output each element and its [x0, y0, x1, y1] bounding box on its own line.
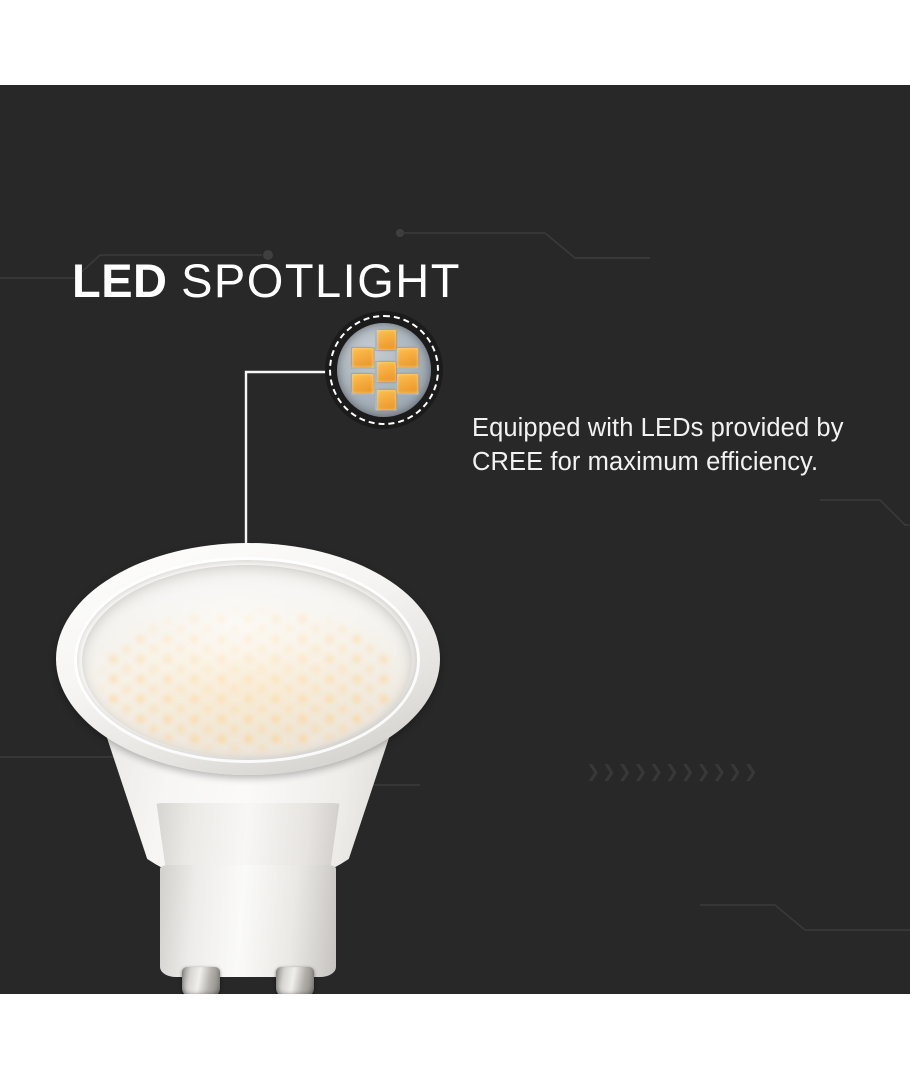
gu10-pin-right	[276, 967, 314, 994]
page-title-strong: LED	[72, 254, 168, 307]
led-pcb-board	[337, 323, 431, 417]
led-chip	[377, 330, 396, 350]
trace-dot-icon	[396, 229, 404, 237]
led-chip	[352, 374, 373, 393]
page-title: LED SPOTLIGHT	[72, 257, 461, 304]
led-chip	[377, 362, 396, 382]
led-chip	[397, 374, 418, 393]
led-spotlight-bulb	[48, 473, 448, 994]
bulb-inner-rim	[74, 557, 420, 763]
circuit-trace-bottom-right	[700, 905, 910, 930]
led-chip	[377, 390, 396, 410]
led-chip-magnifier	[325, 311, 443, 429]
gu10-pin-left	[182, 967, 220, 994]
bulb-neck	[160, 865, 336, 977]
dark-product-panel: ❯❯❯❯❯❯❯❯❯❯❯ LED SPOTLIGHT Equipped with …	[0, 85, 910, 994]
feature-caption: Equipped with LEDs provided by CREE for …	[472, 411, 862, 479]
chevron-row-icon: ❯❯❯❯❯❯❯❯❯❯❯	[586, 762, 759, 782]
led-chip	[397, 348, 418, 367]
circuit-trace-right-mid	[820, 500, 910, 525]
page-title-thin: SPOTLIGHT	[181, 254, 461, 307]
led-chip	[352, 348, 373, 367]
page-title-space	[168, 254, 182, 307]
